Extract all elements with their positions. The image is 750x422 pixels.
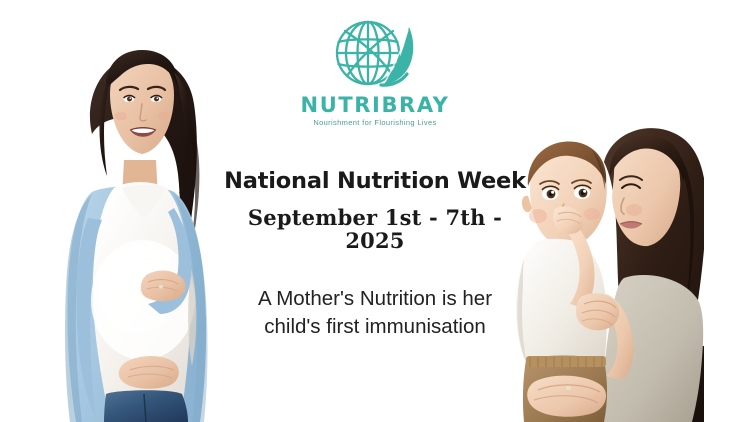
brand-name: NUTRIBRAY (301, 95, 450, 116)
message-block: A Mother's Nutrition is her child's firs… (215, 285, 535, 340)
mother-and-baby-photo (508, 128, 704, 422)
pregnant-woman-photo (48, 42, 233, 422)
globe-leaf-icon (323, 14, 427, 92)
page-title: National Nutrition Week (215, 169, 535, 194)
nutrition-week-poster: NUTRIBRAY Nourishment for Flourishing Li… (0, 0, 750, 422)
brand-tagline: Nourishment for Flourishing Lives (313, 119, 436, 127)
event-dates: September 1st - 7th - 2025 (215, 206, 535, 252)
brand-logo: NUTRIBRAY Nourishment for Flourishing Li… (215, 14, 535, 127)
headline-block: National Nutrition Week September 1st - … (215, 169, 535, 253)
message-line-2: child's first immunisation (215, 313, 535, 341)
center-content-column: NUTRIBRAY Nourishment for Flourishing Li… (215, 14, 535, 341)
message-line-1: A Mother's Nutrition is her (215, 285, 535, 313)
